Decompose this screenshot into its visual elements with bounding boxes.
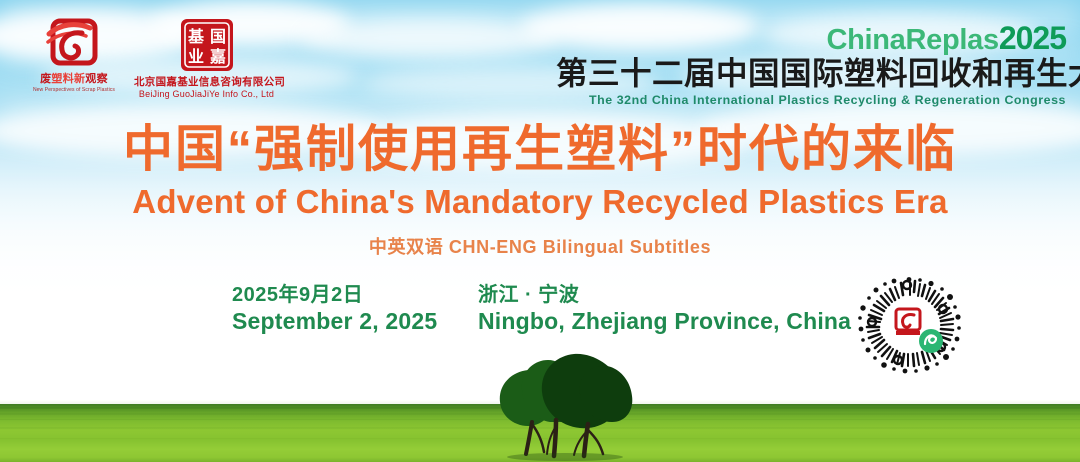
sponsor-logo-guojiajiye[interactable]: 基 国 业 嘉 北京国嘉基业信息咨询有限公司 BeiJing GuoJiaJiY…: [134, 18, 279, 100]
brand-year: 2025: [999, 20, 1066, 56]
spiral-square-logo-icon: [46, 18, 102, 70]
sponsor-name-en: BeiJing GuoJiaJiYe Info Co., Ltd: [134, 89, 279, 100]
headline-en: Advent of China's Mandatory Recycled Pla…: [0, 183, 1080, 221]
svg-text:嘉: 嘉: [208, 47, 225, 66]
headline-cn: 中国“强制使用再生塑料”时代的来临: [0, 122, 1080, 176]
congress-title-en: The 32nd China International Plastics Re…: [556, 93, 1066, 108]
event-date-block: 2025年9月2日 September 2, 2025: [232, 284, 432, 335]
trees-illustration: [470, 344, 650, 462]
qr-center-logo: [894, 308, 922, 336]
wechat-miniprogram-qr-code[interactable]: [858, 277, 962, 377]
sponsor-logo-scrap-plastics[interactable]: 废塑料新观察 New Perspectives of Scrap Plastic…: [18, 18, 130, 93]
svg-text:业: 业: [187, 47, 203, 66]
event-info-row: 2025年9月2日 September 2, 2025 浙江 · 宁波 Ning…: [232, 284, 872, 335]
congress-header: ChinaReplas2025 第三十二届中国国际塑料回收和再生大会 The 3…: [556, 22, 1066, 108]
svg-text:基: 基: [186, 27, 204, 46]
sponsor-name-cn: 北京国嘉基业信息咨询有限公司: [134, 76, 279, 88]
event-date-en: September 2, 2025: [232, 309, 432, 335]
sponsor-name-cn: 废塑料新观察: [18, 73, 130, 86]
event-location-block: 浙江 · 宁波 Ningbo, Zhejiang Province, China: [478, 284, 851, 335]
congress-title-cn: 第三十二届中国国际塑料回收和再生大会: [556, 56, 1066, 90]
bilingual-subtitle-note: 中英双语 CHN-ENG Bilingual Subtitles: [0, 233, 1080, 259]
brand-lockup: ChinaReplas2025: [556, 22, 1066, 55]
event-location-en: Ningbo, Zhejiang Province, China: [478, 309, 851, 335]
wechat-miniprogram-badge: [919, 329, 943, 353]
headline-block: 中国“强制使用再生塑料”时代的来临 Advent of China's Mand…: [0, 122, 1080, 259]
event-date-cn: 2025年9月2日: [232, 284, 432, 306]
brand-word: ChinaReplas: [826, 24, 998, 56]
event-banner: 废塑料新观察 New Perspectives of Scrap Plastic…: [0, 0, 1080, 462]
event-location-cn: 浙江 · 宁波: [478, 284, 851, 306]
sponsor-name-en: New Perspectives of Scrap Plastics: [18, 87, 130, 93]
svg-text:国: 国: [209, 27, 225, 46]
red-seal-logo-icon: 基 国 业 嘉: [179, 18, 235, 72]
